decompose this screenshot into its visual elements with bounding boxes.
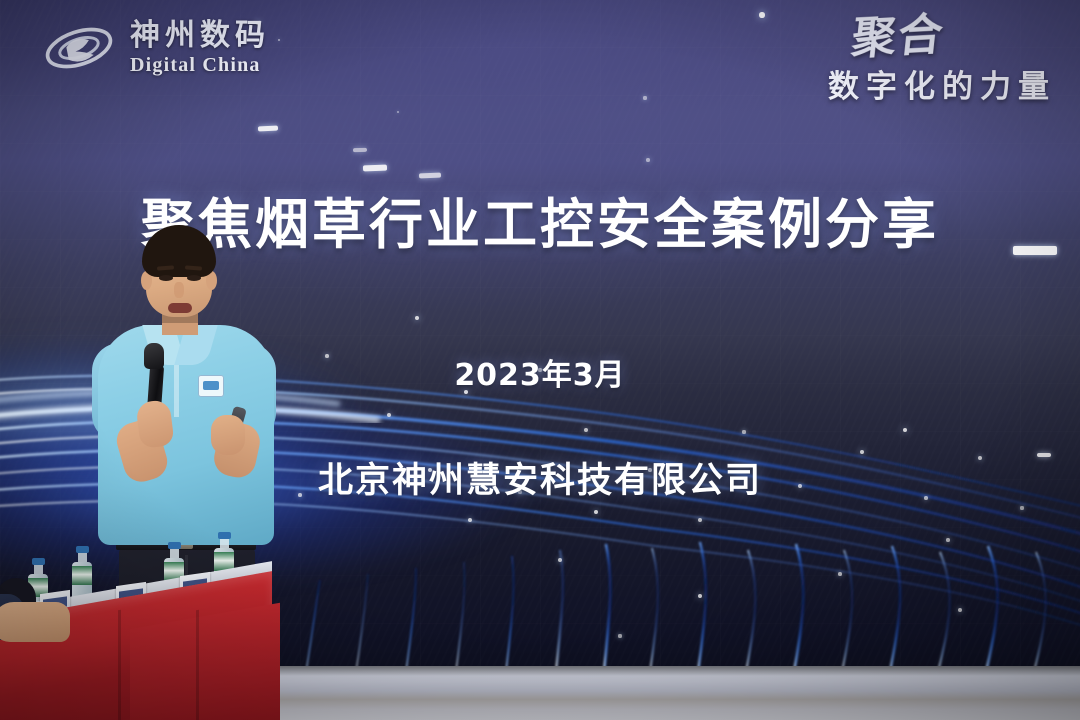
light-particle xyxy=(838,572,842,576)
digital-china-swirl-logo xyxy=(42,18,116,78)
speaker-mouth xyxy=(168,303,192,313)
conference-stage-photo: 神州数码 Digital China 聚合 数字化的力量 聚焦烟草行业工控安全案… xyxy=(0,0,1080,720)
bottle-neck xyxy=(78,553,87,562)
speaker-eye-left xyxy=(159,275,173,281)
light-particle xyxy=(958,608,962,612)
speaker-nose xyxy=(174,282,184,298)
shirt-logo-badge xyxy=(198,375,224,397)
light-streak xyxy=(419,172,441,178)
light-particle xyxy=(742,430,745,433)
light-particle xyxy=(558,558,562,562)
light-particle xyxy=(618,634,621,637)
seated-attendee xyxy=(0,584,82,674)
speaker-eye-right xyxy=(187,275,201,281)
light-particle xyxy=(278,39,281,42)
light-particle xyxy=(387,413,391,417)
light-particle xyxy=(698,518,702,522)
brand-name-cn: 神州数码 xyxy=(130,21,270,51)
table-skirt-fold xyxy=(118,610,121,720)
digital-china-logo: 神州数码 Digital China xyxy=(42,18,270,78)
light-particle xyxy=(903,428,908,433)
bottle-neck xyxy=(34,565,43,574)
brand-text-block: 神州数码 Digital China xyxy=(130,21,270,75)
bottle-neck xyxy=(170,549,179,558)
light-particle xyxy=(759,12,764,17)
speaker-hand-right xyxy=(211,415,245,455)
light-particle xyxy=(946,538,950,542)
slogan-subtitle: 数字化的力量 xyxy=(828,61,1056,106)
light-particle xyxy=(415,316,419,320)
bottle-neck xyxy=(220,539,229,548)
bottle-cap xyxy=(218,532,231,539)
light-streak xyxy=(363,165,387,172)
microphone-head xyxy=(144,343,164,369)
light-particle xyxy=(643,96,646,99)
bottle-label xyxy=(72,566,92,585)
light-streak xyxy=(258,125,278,131)
slogan-calligraphy: 聚合 xyxy=(825,13,946,62)
light-particle xyxy=(468,518,472,522)
bottle-cap xyxy=(32,558,45,565)
event-slogan: 聚合 数字化的力量 xyxy=(828,16,1056,106)
light-particle xyxy=(646,158,650,162)
speaker-hair xyxy=(142,225,216,277)
light-streak xyxy=(353,148,367,152)
light-particle xyxy=(397,111,400,114)
bottle-cap xyxy=(168,542,181,549)
light-particle xyxy=(594,510,598,514)
brand-name-en: Digital China xyxy=(130,55,270,75)
bottle-cap xyxy=(76,546,89,553)
light-particle xyxy=(698,594,702,598)
attendee-arm xyxy=(0,602,70,642)
light-particle xyxy=(584,428,588,432)
table-skirt-fold xyxy=(196,610,199,720)
light-particle xyxy=(1020,506,1023,509)
